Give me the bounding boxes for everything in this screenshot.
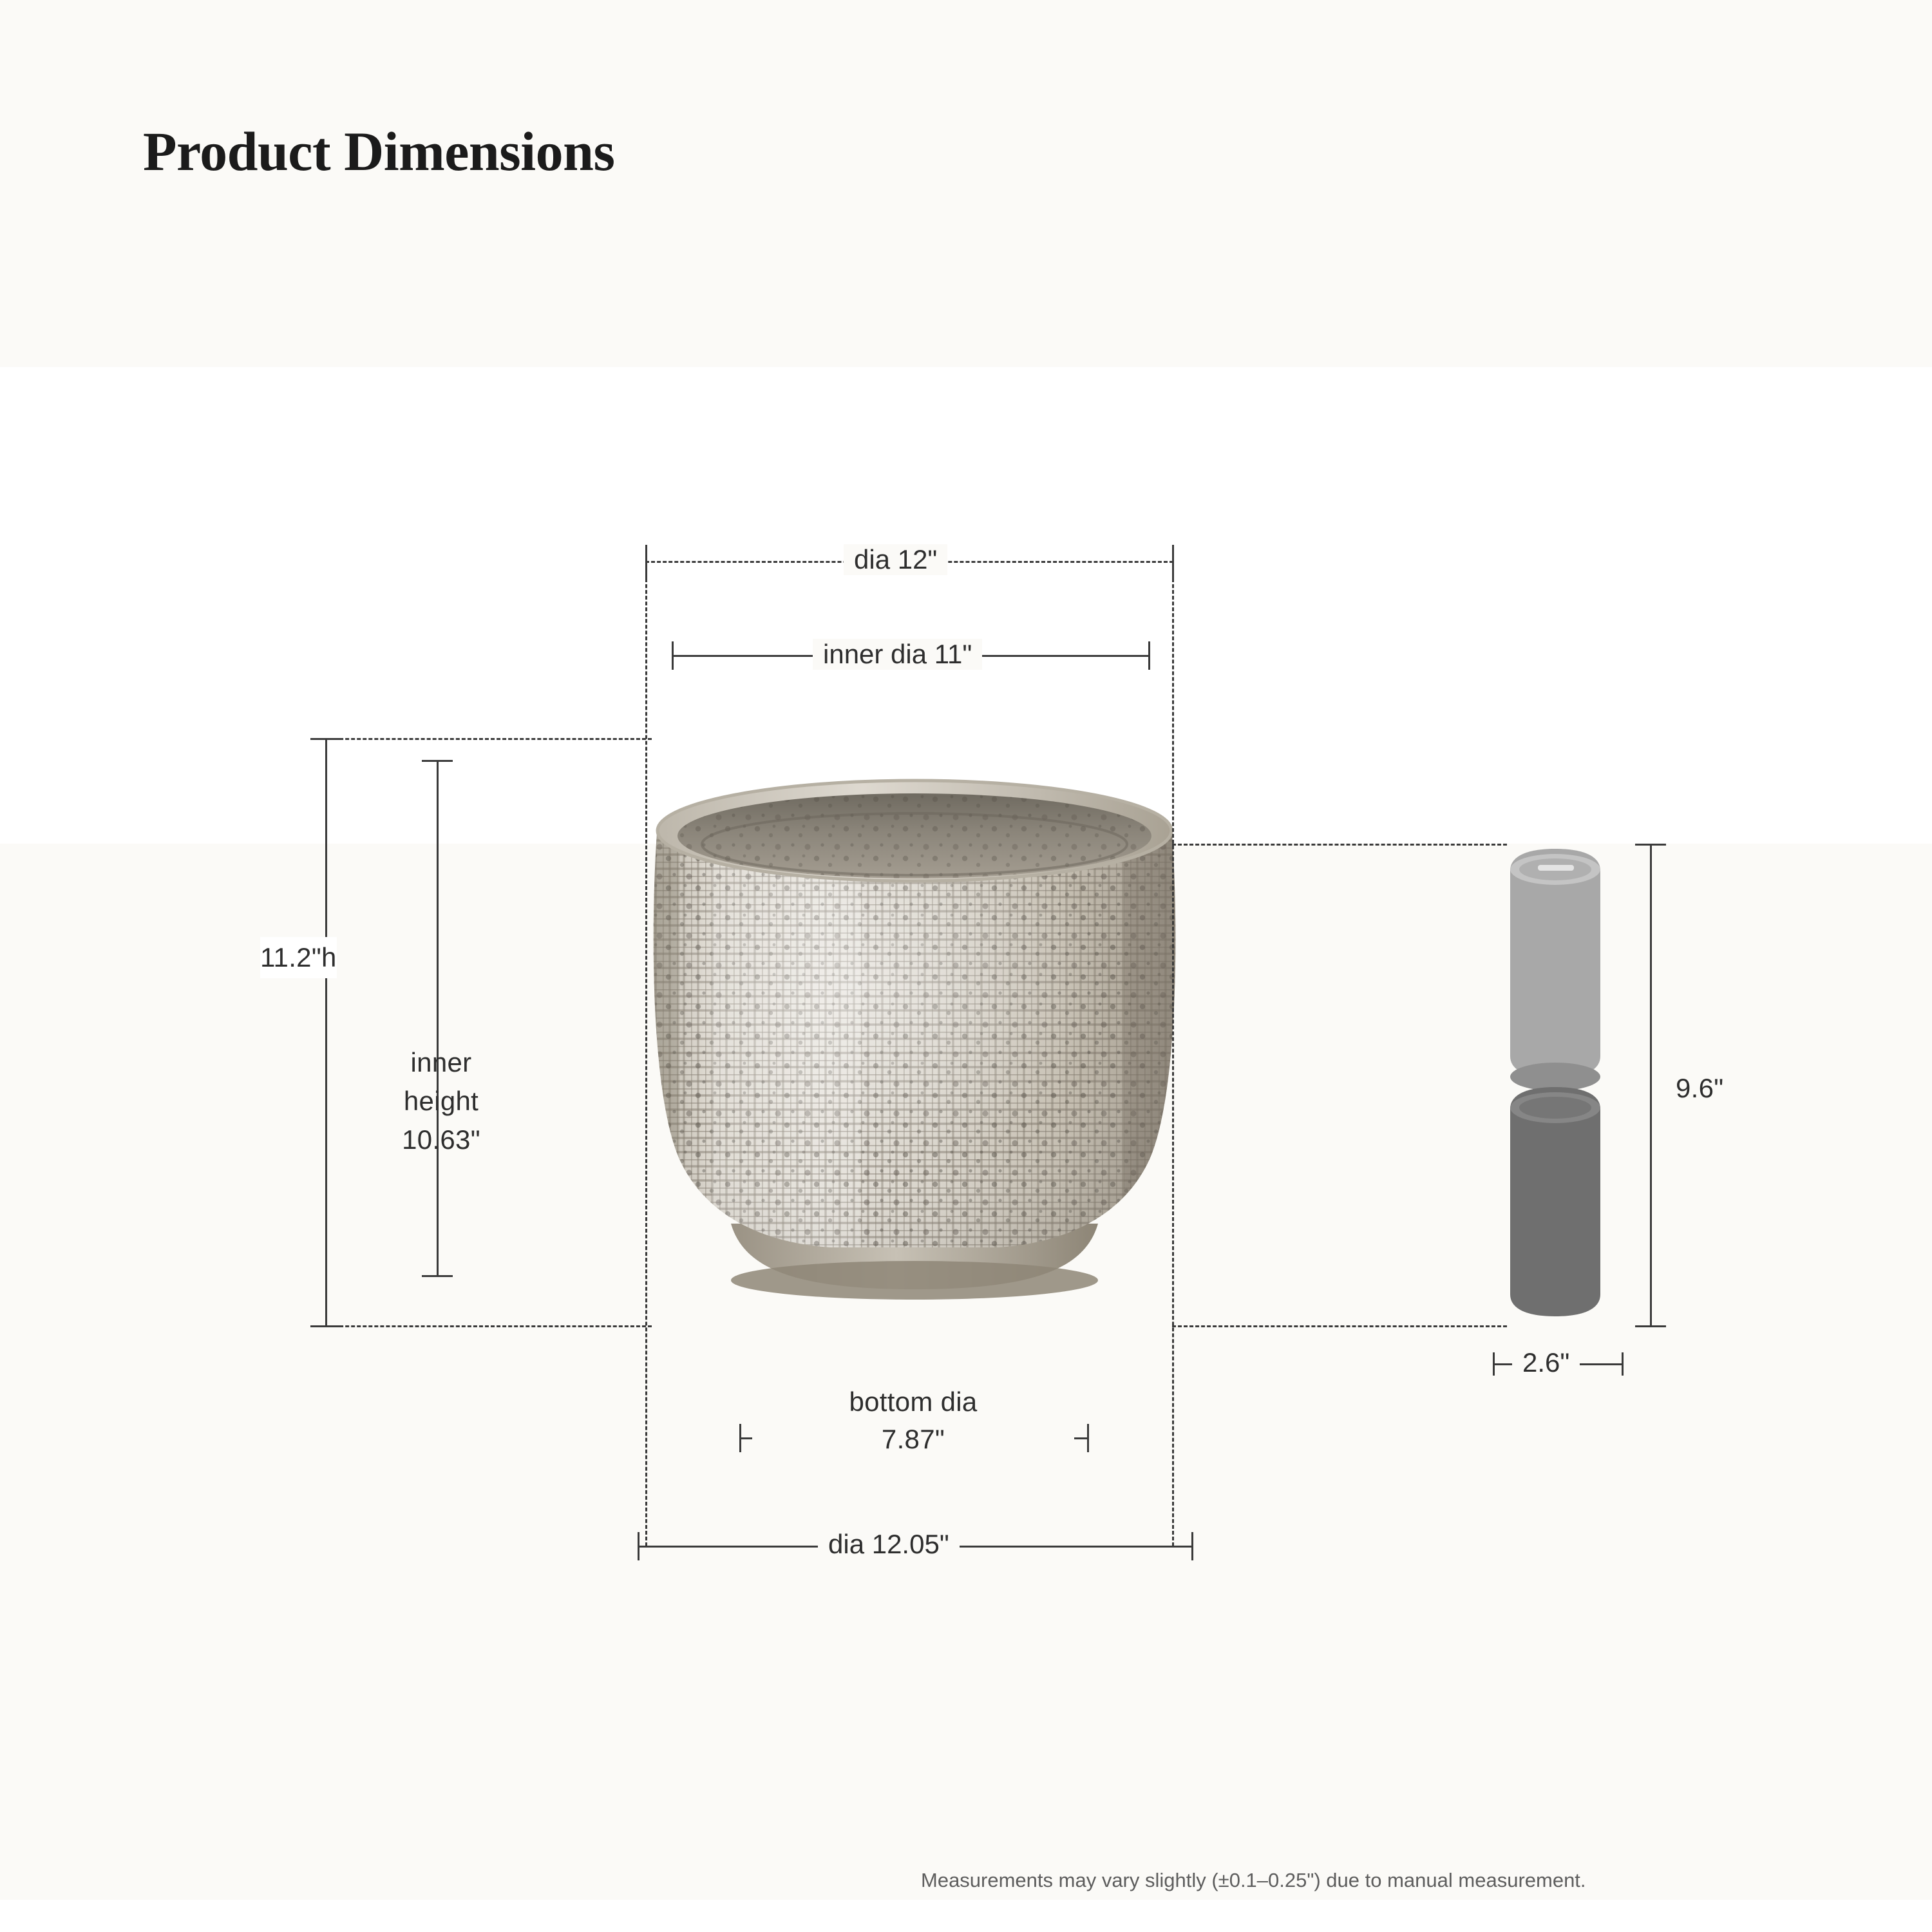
product-illustration — [634, 734, 1195, 1314]
dim-label-can-width: 2.6" — [1512, 1347, 1580, 1378]
dim-cap-can-width-left — [1493, 1352, 1495, 1376]
dim-cap-bottom-dia-left — [739, 1424, 741, 1452]
dim-cap-height-top — [310, 738, 341, 740]
dim-line-can-height — [1650, 844, 1652, 1325]
soda-can-graphic — [1488, 844, 1623, 1333]
dim-cap-can-height-top — [1635, 844, 1666, 846]
dim-cap-overall-dia-left — [638, 1532, 639, 1560]
dim-cap-inner-height-bottom — [422, 1275, 453, 1277]
dim-label-can-height: 9.6" — [1676, 1069, 1724, 1108]
guide-line-height-top — [322, 738, 652, 740]
dim-label-outer-dia: dia 12" — [844, 544, 947, 575]
extension-line-right-outer — [1172, 561, 1174, 1546]
page-title: Product Dimensions — [143, 119, 614, 184]
guide-line-can-bottom — [1172, 1325, 1507, 1327]
dim-cap-inner-dia-right — [1148, 641, 1150, 670]
dim-label-overall-dia: dia 12.05" — [818, 1529, 960, 1560]
dim-label-bottom-dia-group: bottom dia 7.87" — [752, 1383, 1074, 1458]
dim-cap-inner-height-top — [422, 760, 453, 762]
dim-cap-can-width-right — [1622, 1352, 1624, 1376]
background-band-top — [0, 0, 1932, 367]
dim-label-height: 11.2"h — [260, 937, 337, 978]
scale-reference-cans — [1488, 844, 1623, 1333]
dim-label-inner-height-l2: height — [364, 1082, 518, 1121]
guide-line-height-bottom — [322, 1325, 652, 1327]
dim-line-height — [325, 738, 327, 1325]
dim-cap-bottom-dia-right — [1087, 1424, 1089, 1452]
dim-cap-can-height-bottom — [1635, 1325, 1666, 1327]
dim-label-bottom-dia-l2: 7.87" — [752, 1421, 1074, 1458]
dim-line-inner-height — [437, 760, 439, 1275]
dim-cap-overall-dia-right — [1191, 1532, 1193, 1560]
planter-graphic — [634, 734, 1195, 1314]
dim-cap-height-bottom — [310, 1325, 341, 1327]
dim-label-inner-height-group: inner height 10.63" — [364, 1043, 518, 1159]
dim-label-inner-height-l3: 10.63" — [364, 1121, 518, 1159]
footer-note: Measurements may vary slightly (±0.1–0.2… — [921, 1869, 1586, 1892]
dim-label-bottom-dia-l1: bottom dia — [752, 1383, 1074, 1421]
extension-line-left-outer — [645, 561, 647, 1546]
dim-cap-inner-dia-left — [672, 641, 674, 670]
dim-label-inner-height-l1: inner — [364, 1043, 518, 1082]
dim-label-inner-dia: inner dia 11" — [813, 639, 982, 670]
guide-line-can-top — [1172, 844, 1507, 846]
